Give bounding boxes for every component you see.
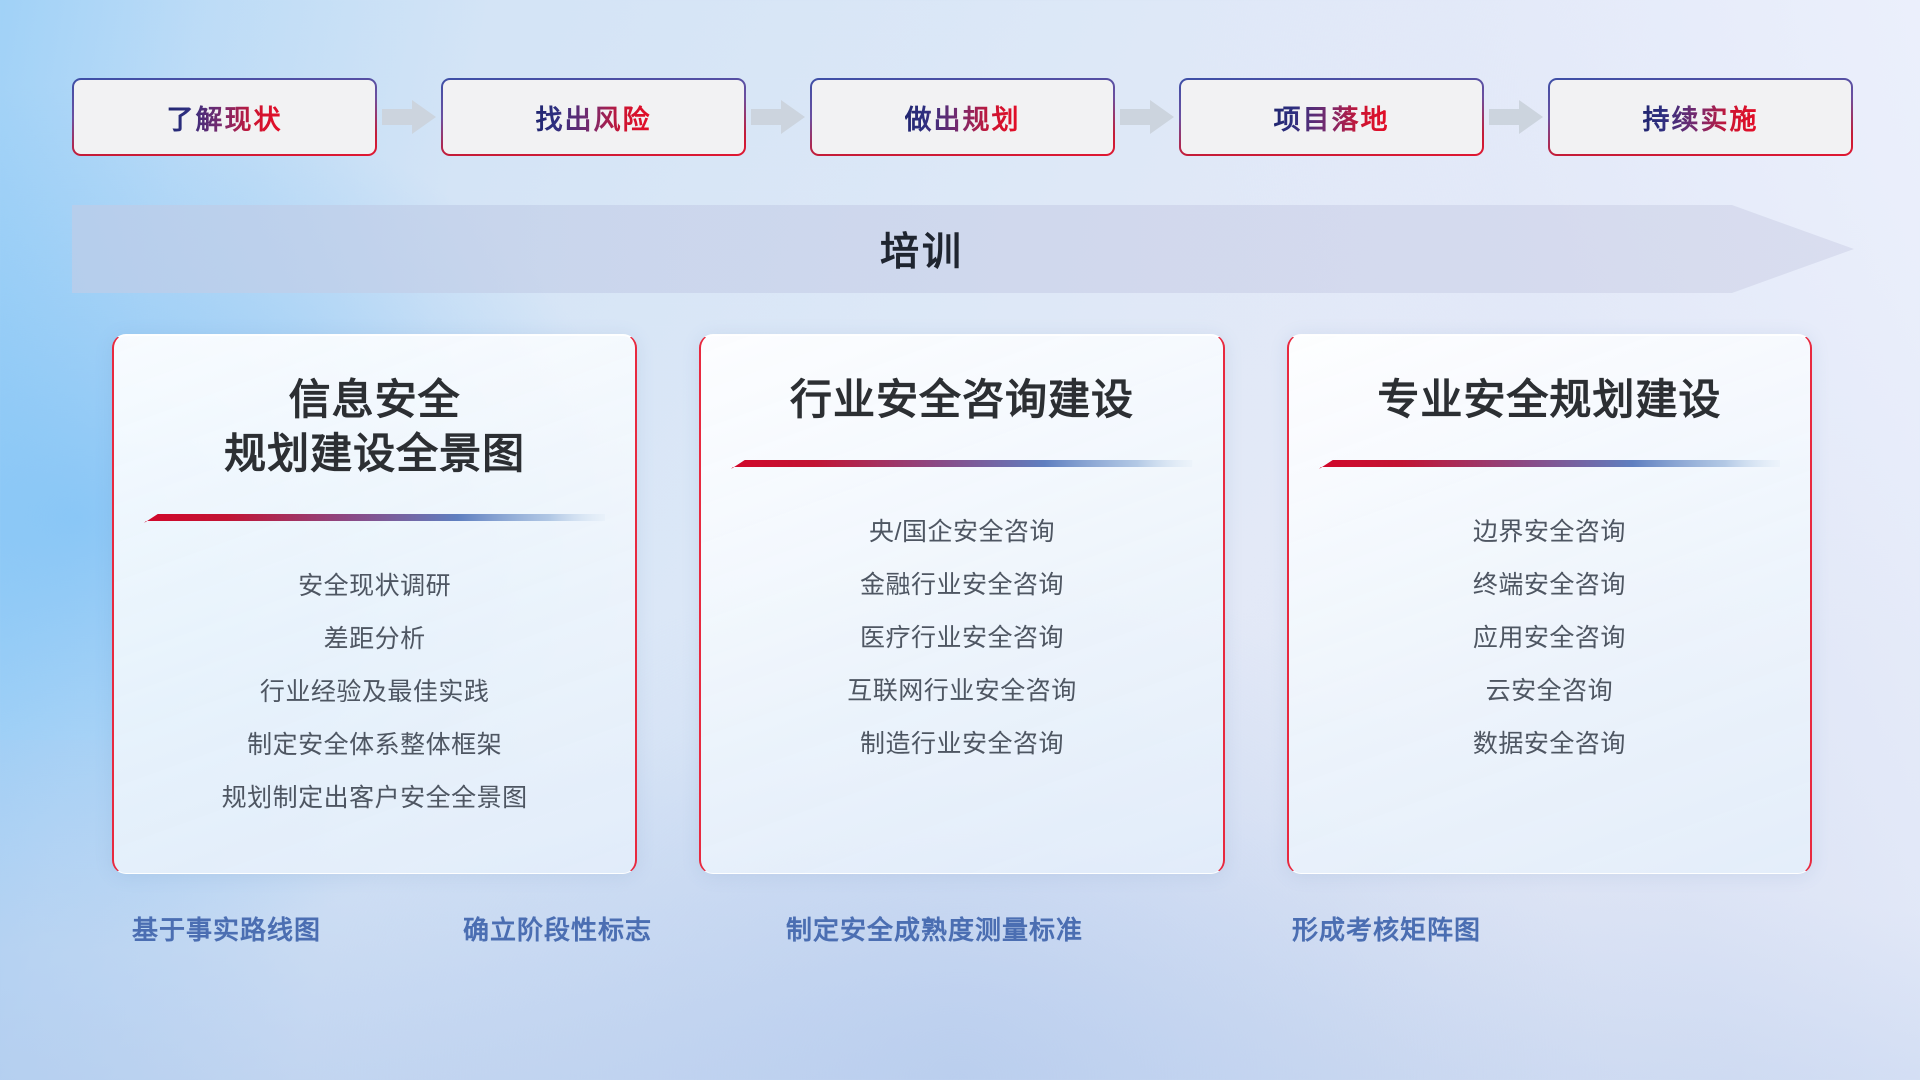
step-label: 了解现状 <box>167 98 283 137</box>
step-box-5[interactable]: 持续实施 <box>1548 78 1853 156</box>
list-item: 医疗行业安全咨询 <box>860 617 1064 660</box>
banner-title: 培训 <box>72 205 1772 293</box>
step-label: 做出规划 <box>905 98 1021 137</box>
list-item: 央/国企安全咨询 <box>869 511 1055 554</box>
card-title: 专业安全规划建设 <box>1377 373 1721 427</box>
card-row: 信息安全 规划建设全景图 <box>112 334 1812 874</box>
card-title: 行业安全咨询建设 <box>790 373 1134 427</box>
list-item: 差距分析 <box>324 618 426 661</box>
card-divider <box>731 455 1192 475</box>
card-industry-security-consulting[interactable]: 行业安全咨询建设 <box>699 334 1224 874</box>
training-banner: 培训 <box>72 205 1854 293</box>
step-flow: 了解现状 找出风险 做出规划 项目落地 <box>72 78 1854 156</box>
step-box-2[interactable]: 找出风险 <box>441 78 746 156</box>
list-item: 数据安全咨询 <box>1473 723 1626 766</box>
card-item-list: 边界安全咨询 终端安全咨询 应用安全咨询 云安全咨询 数据安全咨询 <box>1319 511 1780 766</box>
right-arrow-icon <box>1484 78 1548 156</box>
list-item: 应用安全咨询 <box>1473 617 1626 660</box>
card-professional-security-planning[interactable]: 专业安全规划建设 <box>1287 334 1812 874</box>
list-item: 边界安全咨询 <box>1473 511 1626 554</box>
caption-maturity-standard: 制定安全成熟度测量标准 <box>786 910 1083 947</box>
step-box-1[interactable]: 了解现状 <box>72 78 377 156</box>
list-item: 金融行业安全咨询 <box>860 564 1064 607</box>
card-information-security-blueprint[interactable]: 信息安全 规划建设全景图 <box>112 334 637 874</box>
list-item: 行业经验及最佳实践 <box>260 671 490 714</box>
card-divider <box>144 509 605 529</box>
card-title: 信息安全 规划建设全景图 <box>224 373 525 481</box>
caption-roadmap: 基于事实路线图 <box>132 910 321 947</box>
step-label: 项目落地 <box>1274 98 1390 137</box>
card-divider <box>1319 455 1780 475</box>
list-item: 制定安全体系整体框架 <box>247 724 502 767</box>
list-item: 安全现状调研 <box>298 565 451 608</box>
list-item: 终端安全咨询 <box>1473 564 1626 607</box>
list-item: 规划制定出客户安全全景图 <box>222 777 528 820</box>
card-item-list: 安全现状调研 差距分析 行业经验及最佳实践 制定安全体系整体框架 规划制定出客户… <box>144 565 605 820</box>
caption-row: 基于事实路线图 确立阶段性标志 制定安全成熟度测量标准 形成考核矩阵图 <box>0 910 1920 960</box>
step-box-4[interactable]: 项目落地 <box>1179 78 1484 156</box>
right-arrow-icon <box>746 78 810 156</box>
list-item: 云安全咨询 <box>1486 670 1614 713</box>
slide-canvas: 了解现状 找出风险 做出规划 项目落地 <box>0 0 1920 1080</box>
card-item-list: 央/国企安全咨询 金融行业安全咨询 医疗行业安全咨询 互联网行业安全咨询 制造行… <box>731 511 1192 766</box>
caption-milestones: 确立阶段性标志 <box>463 910 652 947</box>
list-item: 制造行业安全咨询 <box>860 723 1064 766</box>
step-label: 找出风险 <box>536 98 652 137</box>
right-arrow-icon <box>1115 78 1179 156</box>
step-box-3[interactable]: 做出规划 <box>810 78 1115 156</box>
step-label: 持续实施 <box>1643 98 1759 137</box>
caption-assessment-matrix: 形成考核矩阵图 <box>1292 910 1481 947</box>
list-item: 互联网行业安全咨询 <box>847 670 1077 713</box>
right-arrow-icon <box>377 78 441 156</box>
